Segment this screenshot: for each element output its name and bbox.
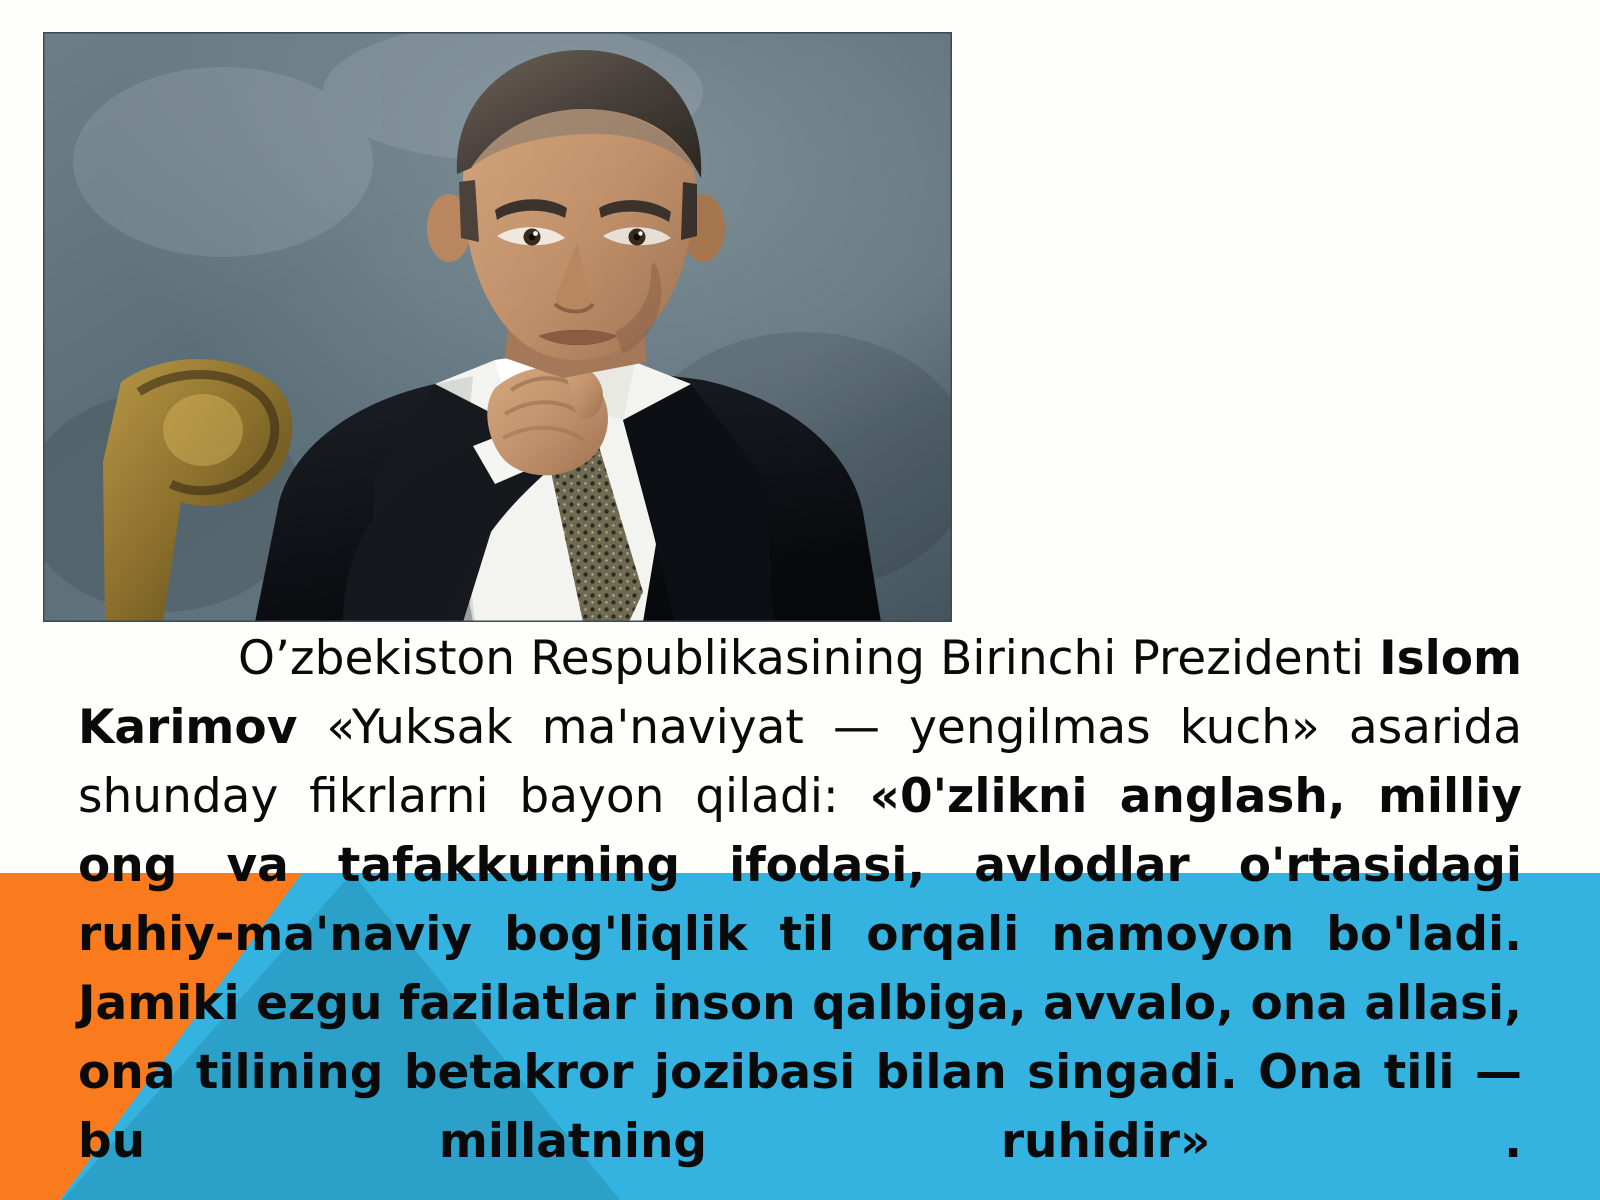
body-paragraph: O’zbekiston Respublikasining Birinchi Pr… [78,624,1522,1200]
portrait-photo [43,32,952,622]
sideburn-right [681,182,697,240]
body-text-segment: O’zbekiston Respublikasining Birinchi Pr… [238,631,1379,686]
portrait-illustration [43,32,952,622]
body-text-segment: «0'zlikni anglash, milliy ong va tafakku… [78,769,1522,1169]
slide-canvas: O’zbekiston Respublikasining Birinchi Pr… [0,0,1600,1200]
